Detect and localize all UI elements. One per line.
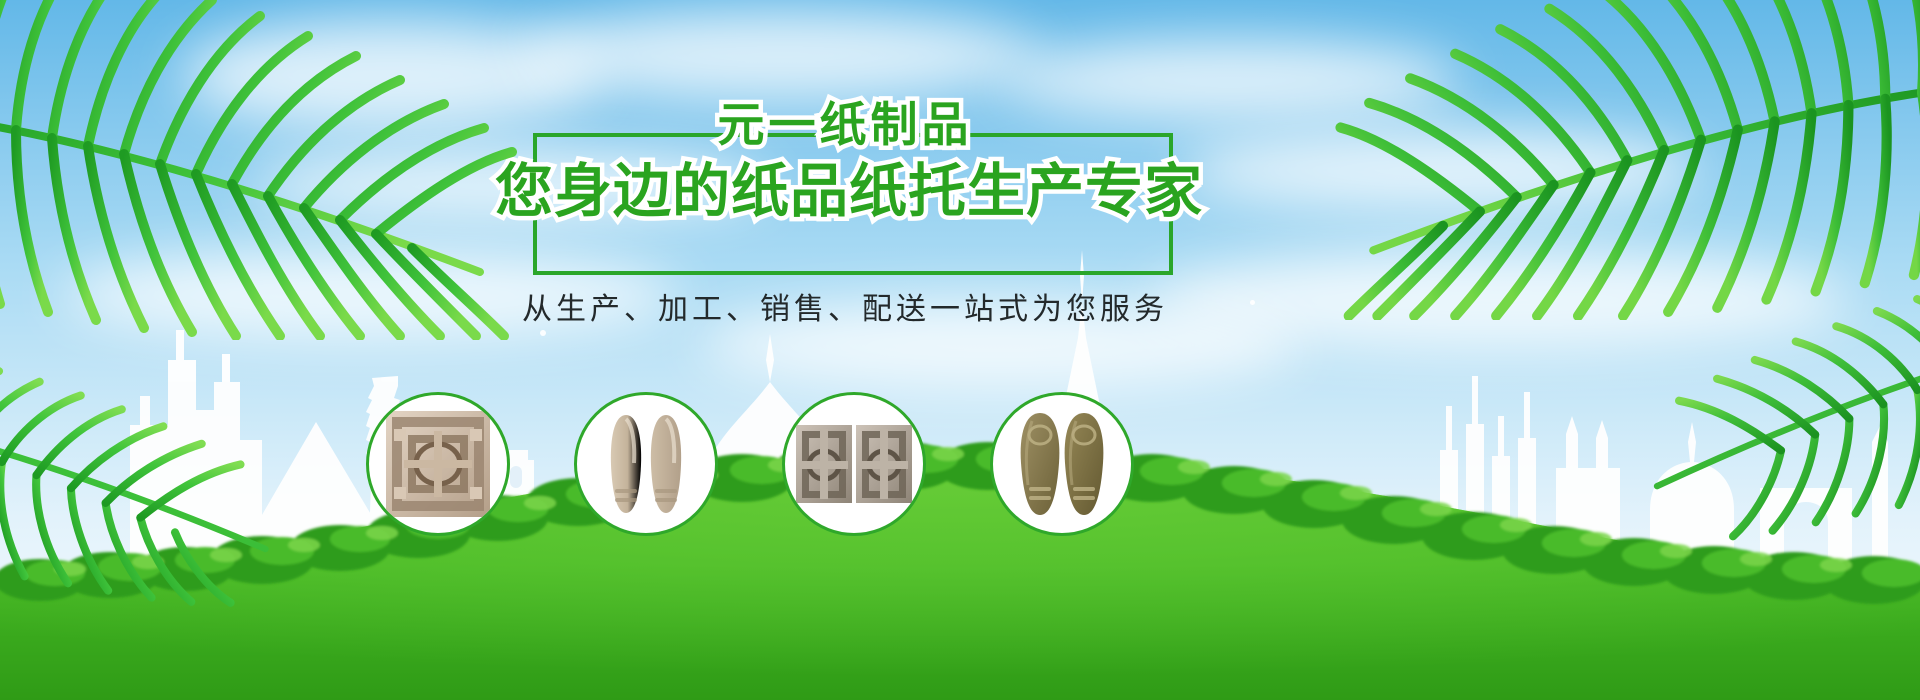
product-circle-row bbox=[0, 370, 1920, 700]
headline-row: 您身边的纸品纸托生产专家 bbox=[495, 156, 1195, 227]
brand-title-row: 元一纸制品 bbox=[495, 96, 1195, 155]
product-circle-3[interactable] bbox=[782, 392, 926, 536]
palm-leaf-top-left bbox=[0, 0, 520, 340]
sparkle bbox=[540, 330, 546, 336]
palm-leaf-bottom-right bbox=[1635, 239, 1920, 581]
palm-leaf-bottom-left bbox=[0, 302, 289, 658]
cloud-wisp bbox=[520, 10, 1040, 100]
headline-block: 元一纸制品 您身边的纸品纸托生产专家 bbox=[495, 100, 1195, 280]
brand-title: 元一纸制品 bbox=[718, 98, 973, 153]
molded-pulp-shoe-inserts-pair bbox=[586, 405, 706, 523]
molded-pulp-shoe-forms-pair bbox=[1002, 405, 1122, 523]
promo-banner: 元一纸制品 您身边的纸品纸托生产专家 从生产、加工、销售、配送一站式为您服务 bbox=[0, 0, 1920, 700]
molded-pulp-tray-double bbox=[794, 405, 914, 523]
product-circle-2[interactable] bbox=[574, 392, 718, 536]
product-circle-4[interactable] bbox=[990, 392, 1134, 536]
tagline: 从生产、加工、销售、配送一站式为您服务 bbox=[430, 290, 1260, 330]
sparkle bbox=[1250, 300, 1255, 305]
molded-pulp-tray-square bbox=[378, 405, 498, 523]
product-circle-1[interactable] bbox=[366, 392, 510, 536]
headline-text: 您身边的纸品纸托生产专家 bbox=[495, 157, 1203, 225]
